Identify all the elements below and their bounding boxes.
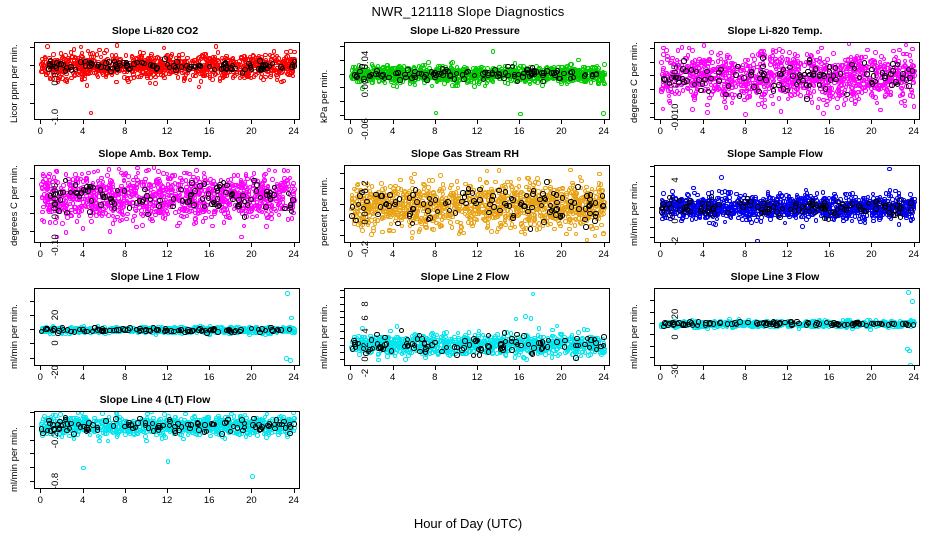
data-point bbox=[773, 57, 778, 62]
data-point bbox=[282, 168, 287, 173]
data-point bbox=[816, 105, 821, 110]
data-point bbox=[447, 73, 453, 79]
data-point bbox=[174, 59, 180, 65]
data-point bbox=[863, 55, 868, 60]
x-tick-mark bbox=[703, 120, 704, 124]
data-point bbox=[131, 218, 136, 223]
data-point bbox=[813, 66, 819, 72]
data-point bbox=[279, 189, 284, 194]
data-point bbox=[711, 89, 716, 94]
data-point bbox=[179, 214, 184, 219]
data-point bbox=[191, 64, 197, 70]
data-point bbox=[272, 49, 277, 54]
data-point-outlier bbox=[288, 49, 293, 54]
data-point bbox=[716, 59, 721, 64]
x-tick-label: 20 bbox=[859, 126, 883, 137]
data-point bbox=[89, 198, 95, 204]
data-point bbox=[551, 70, 557, 76]
data-point bbox=[810, 100, 815, 105]
data-point bbox=[882, 75, 888, 81]
data-point bbox=[882, 57, 887, 62]
data-point bbox=[171, 196, 177, 202]
x-tick-mark bbox=[251, 120, 252, 124]
data-point bbox=[379, 73, 385, 79]
data-point bbox=[175, 224, 180, 229]
x-tick-mark bbox=[745, 120, 746, 124]
data-point bbox=[108, 229, 113, 234]
x-tick-mark bbox=[871, 120, 872, 124]
x-tick-label: 12 bbox=[155, 249, 179, 260]
data-point bbox=[173, 173, 178, 178]
data-point bbox=[426, 60, 431, 65]
data-point bbox=[86, 171, 91, 176]
data-point bbox=[857, 97, 862, 102]
data-point bbox=[389, 222, 394, 227]
data-point bbox=[133, 66, 138, 71]
x-tick-label: 16 bbox=[197, 126, 221, 137]
data-point bbox=[192, 188, 198, 194]
data-point bbox=[194, 178, 199, 183]
data-point bbox=[203, 216, 208, 221]
data-point bbox=[597, 78, 602, 83]
data-point bbox=[89, 219, 94, 224]
data-point-outlier bbox=[89, 111, 94, 116]
data-point bbox=[96, 75, 101, 80]
data-point-outlier bbox=[97, 48, 102, 53]
data-point bbox=[237, 59, 242, 64]
data-point bbox=[696, 77, 702, 83]
x-tick-mark bbox=[787, 120, 788, 124]
data-point bbox=[162, 56, 168, 62]
data-point bbox=[817, 82, 823, 88]
data-point bbox=[844, 72, 849, 77]
data-point bbox=[910, 68, 916, 74]
x-tick-label: 8 bbox=[423, 126, 447, 137]
data-point bbox=[96, 169, 101, 174]
data-point bbox=[912, 104, 917, 109]
data-point bbox=[709, 50, 714, 55]
data-point bbox=[114, 80, 119, 85]
data-point bbox=[730, 101, 735, 106]
data-point bbox=[789, 93, 794, 98]
data-point bbox=[82, 59, 88, 65]
data-point bbox=[821, 111, 826, 116]
data-point bbox=[83, 203, 88, 208]
y-tick-mark bbox=[30, 84, 34, 85]
data-point bbox=[774, 49, 779, 54]
data-point bbox=[124, 60, 130, 66]
data-point bbox=[263, 75, 268, 80]
data-point-outlier bbox=[434, 111, 439, 116]
data-point bbox=[157, 198, 163, 204]
data-point bbox=[134, 200, 140, 206]
data-point bbox=[124, 53, 129, 58]
data-point bbox=[242, 214, 248, 220]
data-point bbox=[859, 55, 864, 60]
data-point bbox=[908, 93, 913, 98]
data-point bbox=[450, 83, 455, 88]
data-point bbox=[130, 55, 135, 60]
data-point bbox=[105, 173, 110, 178]
data-point bbox=[193, 216, 198, 221]
data-point bbox=[153, 75, 158, 80]
x-tick-label: 0 bbox=[28, 126, 52, 137]
data-point bbox=[506, 81, 511, 86]
data-point bbox=[212, 211, 217, 216]
data-point bbox=[440, 73, 446, 79]
y-tick-mark bbox=[650, 103, 654, 104]
y-tick-mark bbox=[340, 87, 344, 88]
data-point bbox=[236, 197, 242, 203]
data-point bbox=[188, 193, 194, 199]
x-tick-mark bbox=[561, 120, 562, 124]
data-point bbox=[107, 167, 112, 172]
data-point bbox=[142, 187, 148, 193]
y-tick-mark bbox=[340, 60, 344, 61]
data-point bbox=[821, 73, 827, 79]
data-point bbox=[858, 84, 863, 89]
data-point bbox=[236, 173, 241, 178]
data-point bbox=[430, 84, 435, 89]
data-point bbox=[179, 64, 185, 70]
data-point bbox=[263, 204, 269, 210]
x-tick-mark bbox=[829, 120, 830, 124]
data-point bbox=[224, 215, 229, 220]
data-point bbox=[824, 103, 829, 108]
x-tick-mark bbox=[604, 120, 605, 124]
data-point bbox=[864, 71, 870, 77]
data-point bbox=[207, 210, 212, 215]
data-point bbox=[842, 102, 847, 107]
data-point bbox=[460, 72, 466, 78]
data-point bbox=[798, 74, 804, 80]
y-tick-mark bbox=[340, 101, 344, 102]
data-point bbox=[838, 71, 844, 77]
data-point bbox=[602, 71, 607, 76]
data-point bbox=[383, 81, 388, 86]
panel-title: Slope Li-820 Temp. bbox=[620, 25, 930, 37]
x-tick-mark bbox=[914, 120, 915, 124]
data-point bbox=[398, 178, 403, 183]
data-point bbox=[47, 172, 52, 177]
data-point bbox=[264, 212, 269, 217]
data-point bbox=[904, 77, 910, 83]
y-tick-mark bbox=[30, 103, 34, 104]
x-tick-mark bbox=[209, 120, 210, 124]
data-point bbox=[280, 66, 286, 72]
data-point bbox=[763, 98, 768, 103]
data-point bbox=[194, 220, 199, 225]
data-point bbox=[760, 55, 766, 61]
data-point bbox=[849, 85, 854, 90]
data-point bbox=[819, 61, 824, 66]
y-tick-mark bbox=[30, 65, 34, 66]
data-point bbox=[710, 60, 715, 65]
data-point bbox=[51, 52, 56, 57]
data-point bbox=[156, 181, 161, 186]
data-point bbox=[740, 89, 745, 94]
data-point bbox=[829, 86, 834, 91]
data-point bbox=[232, 173, 237, 178]
data-point bbox=[110, 190, 115, 195]
data-point bbox=[214, 44, 219, 49]
x-tick-label: 24 bbox=[282, 126, 306, 137]
data-point bbox=[281, 79, 286, 84]
data-point bbox=[271, 192, 277, 198]
data-point bbox=[64, 172, 69, 177]
data-point bbox=[161, 171, 166, 176]
data-point bbox=[849, 62, 855, 68]
data-point bbox=[163, 216, 168, 221]
data-point bbox=[882, 64, 887, 69]
data-point bbox=[188, 78, 193, 83]
data-point bbox=[746, 58, 751, 63]
data-point bbox=[114, 53, 119, 58]
data-point bbox=[157, 208, 162, 213]
data-point bbox=[827, 64, 833, 70]
data-point bbox=[238, 76, 243, 81]
data-point bbox=[873, 50, 878, 55]
x-tick-mark bbox=[350, 120, 351, 124]
data-point bbox=[173, 210, 178, 215]
x-tick-label: 16 bbox=[817, 126, 841, 137]
data-point bbox=[871, 73, 877, 79]
data-point bbox=[194, 168, 199, 173]
x-tick-mark bbox=[40, 243, 41, 247]
data-point bbox=[200, 53, 205, 58]
data-point bbox=[477, 81, 482, 86]
data-point bbox=[391, 84, 396, 89]
x-tick-label: 4 bbox=[71, 249, 95, 260]
x-tick-label: 24 bbox=[282, 249, 306, 260]
data-point bbox=[450, 60, 455, 65]
data-point bbox=[208, 73, 213, 78]
panel-slope-li820-pressure: Slope Li-820 Pressure0.040.00-0.06kPa pe… bbox=[310, 25, 620, 148]
data-point bbox=[212, 202, 218, 208]
data-point bbox=[70, 54, 75, 59]
y-tick-mark bbox=[650, 75, 654, 76]
data-point bbox=[833, 65, 839, 71]
data-point bbox=[121, 173, 126, 178]
data-point bbox=[102, 51, 107, 56]
data-point bbox=[289, 64, 295, 70]
data-point bbox=[777, 96, 782, 101]
data-point bbox=[98, 202, 104, 208]
data-point bbox=[779, 109, 784, 114]
data-point bbox=[805, 69, 811, 75]
data-point bbox=[903, 104, 908, 109]
data-point bbox=[55, 169, 60, 174]
data-point bbox=[839, 83, 844, 88]
data-point bbox=[122, 188, 128, 194]
data-point bbox=[282, 206, 288, 212]
data-point bbox=[524, 67, 530, 73]
data-point bbox=[847, 42, 852, 46]
data-point bbox=[735, 64, 741, 70]
data-point bbox=[148, 81, 153, 86]
data-point bbox=[102, 194, 108, 200]
data-point bbox=[883, 93, 888, 98]
data-point bbox=[722, 60, 727, 65]
data-point bbox=[240, 70, 246, 76]
data-point bbox=[128, 195, 133, 200]
y-tick-mark bbox=[650, 62, 654, 63]
data-point bbox=[517, 177, 522, 182]
data-point bbox=[127, 66, 133, 72]
data-point bbox=[705, 103, 710, 108]
x-tick-label: 20 bbox=[239, 126, 263, 137]
data-point bbox=[82, 77, 87, 82]
data-point bbox=[480, 71, 486, 77]
y-tick-mark bbox=[30, 196, 34, 197]
data-point bbox=[182, 171, 187, 176]
y-axis-label: degrees C per min. bbox=[629, 42, 640, 123]
data-point bbox=[270, 203, 275, 208]
data-point bbox=[405, 67, 411, 73]
data-point bbox=[891, 49, 896, 54]
x-tick-label: 16 bbox=[507, 126, 531, 137]
x-tick-label: 24 bbox=[902, 126, 926, 137]
data-point bbox=[87, 184, 93, 190]
data-point bbox=[169, 54, 174, 59]
data-point bbox=[744, 63, 749, 68]
data-point bbox=[135, 166, 140, 171]
data-point bbox=[206, 191, 212, 197]
y-tick-mark bbox=[340, 46, 344, 47]
data-point bbox=[143, 177, 148, 182]
data-point bbox=[284, 62, 289, 67]
data-point bbox=[176, 75, 181, 80]
data-point bbox=[716, 78, 722, 84]
data-point bbox=[762, 104, 767, 109]
data-point bbox=[895, 62, 901, 68]
data-point bbox=[215, 188, 221, 194]
data-point bbox=[583, 72, 589, 78]
x-tick-mark bbox=[40, 120, 41, 124]
data-point bbox=[748, 94, 753, 99]
data-point bbox=[845, 82, 850, 87]
data-point bbox=[677, 91, 682, 96]
x-tick-mark bbox=[167, 120, 168, 124]
data-point bbox=[602, 62, 607, 67]
data-point bbox=[525, 176, 530, 181]
data-point bbox=[120, 205, 125, 210]
data-point bbox=[780, 49, 785, 54]
data-point bbox=[112, 201, 118, 207]
x-tick-label: 12 bbox=[465, 126, 489, 137]
x-tick-mark bbox=[209, 243, 210, 247]
data-point bbox=[87, 209, 93, 215]
data-point bbox=[140, 223, 145, 228]
data-point bbox=[257, 58, 263, 64]
data-point bbox=[202, 74, 207, 79]
data-point bbox=[153, 58, 158, 63]
data-point bbox=[115, 43, 120, 48]
data-point bbox=[170, 204, 176, 210]
data-point bbox=[530, 65, 536, 71]
data-point bbox=[837, 88, 842, 93]
data-point bbox=[853, 102, 858, 107]
data-point bbox=[87, 64, 93, 70]
data-point bbox=[731, 96, 736, 101]
data-point bbox=[908, 53, 913, 58]
x-tick-label: 12 bbox=[155, 126, 179, 137]
data-point bbox=[771, 83, 777, 89]
y-tick-mark bbox=[650, 48, 654, 49]
data-point bbox=[118, 219, 123, 224]
data-point bbox=[718, 67, 724, 73]
y-axis-label: degrees C per min. bbox=[9, 165, 20, 246]
data-point bbox=[769, 94, 774, 99]
data-point bbox=[823, 86, 829, 92]
x-tick-label: 8 bbox=[113, 249, 137, 260]
data-point bbox=[182, 78, 187, 83]
data-point bbox=[224, 183, 230, 189]
data-point bbox=[680, 45, 685, 50]
data-point bbox=[105, 65, 111, 71]
data-point bbox=[239, 184, 244, 189]
data-point bbox=[769, 59, 774, 64]
data-point bbox=[702, 43, 707, 48]
data-point bbox=[198, 72, 203, 77]
data-point bbox=[96, 62, 102, 68]
data-point bbox=[762, 84, 767, 89]
data-point-outlier bbox=[518, 112, 523, 117]
data-point bbox=[748, 72, 754, 78]
plot-area bbox=[654, 42, 920, 120]
data-point bbox=[556, 76, 562, 82]
data-point bbox=[568, 168, 573, 173]
data-point bbox=[202, 175, 207, 180]
data-point bbox=[821, 98, 826, 103]
data-point bbox=[124, 217, 129, 222]
data-point bbox=[73, 190, 79, 196]
data-point bbox=[185, 214, 190, 219]
panel-title: Slope Gas Stream RH bbox=[310, 148, 620, 160]
data-point bbox=[187, 209, 192, 214]
y-tick-label: 0.04 bbox=[352, 46, 380, 74]
data-point bbox=[255, 214, 260, 219]
data-point bbox=[704, 69, 710, 75]
y-tick-mark bbox=[340, 115, 344, 116]
data-point bbox=[125, 212, 130, 217]
data-point bbox=[245, 177, 250, 182]
plot-area bbox=[344, 42, 610, 120]
data-point bbox=[804, 96, 810, 102]
plot-area bbox=[34, 42, 300, 120]
data-point bbox=[115, 215, 120, 220]
data-point bbox=[904, 43, 909, 48]
data-point bbox=[85, 179, 90, 184]
y-axis-label: kPa per min. bbox=[319, 70, 330, 123]
data-point bbox=[830, 91, 835, 96]
x-tick-mark bbox=[251, 243, 252, 247]
data-point bbox=[865, 48, 870, 53]
data-point bbox=[145, 212, 151, 218]
panel-slope-gas-stream-rh: Slope Gas Stream RH0.20.0-0.2percent per… bbox=[310, 148, 620, 271]
data-point bbox=[197, 183, 203, 189]
data-point bbox=[703, 59, 708, 64]
y-tick-label: 0.005 bbox=[662, 62, 690, 90]
data-point bbox=[819, 46, 824, 51]
data-point bbox=[559, 81, 564, 86]
data-point bbox=[906, 83, 912, 89]
data-point bbox=[821, 67, 826, 72]
data-point-outlier bbox=[491, 49, 496, 54]
data-point bbox=[284, 55, 289, 60]
data-point bbox=[267, 168, 272, 173]
data-point bbox=[528, 82, 533, 87]
